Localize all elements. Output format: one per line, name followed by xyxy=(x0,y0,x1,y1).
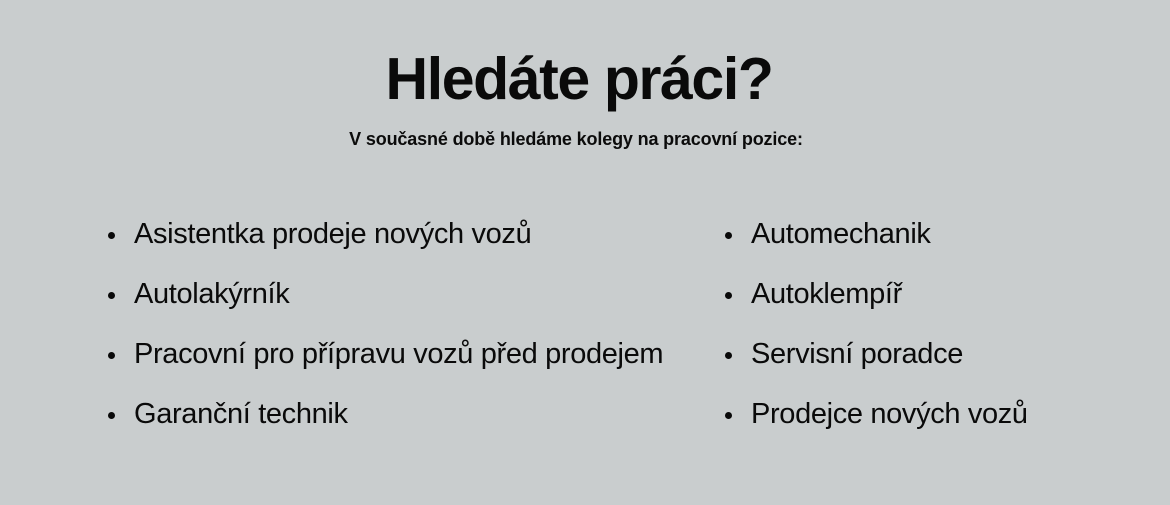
list-item: Pracovní pro přípravu vozů před prodejem xyxy=(103,325,660,385)
bullet-icon xyxy=(725,352,732,359)
bullet-icon xyxy=(725,232,732,239)
bullet-icon xyxy=(108,232,115,239)
list-item: Autolakýrník xyxy=(103,265,660,325)
job-title-label: Garanční technik xyxy=(134,398,348,431)
list-item: Automechanik xyxy=(720,205,1170,265)
job-list-right: Automechanik Autoklempíř Servisní poradc… xyxy=(720,205,1170,445)
job-columns: Asistentka prodeje nových vozů Autolakýr… xyxy=(0,205,1170,455)
page-subtitle: V současné době hledáme kolegy na pracov… xyxy=(0,128,1152,151)
job-title-label: Autoklempíř xyxy=(751,278,902,311)
list-item: Garanční technik xyxy=(103,385,660,445)
job-column-right: Automechanik Autoklempíř Servisní poradc… xyxy=(660,205,1170,445)
list-item: Prodejce nových vozů xyxy=(720,385,1170,445)
bullet-icon xyxy=(725,292,732,299)
list-item: Autoklempíř xyxy=(720,265,1170,325)
job-title-label: Automechanik xyxy=(751,218,931,251)
job-column-left: Asistentka prodeje nových vozů Autolakýr… xyxy=(0,205,660,445)
job-title-label: Pracovní pro přípravu vozů před prodejem xyxy=(134,338,663,371)
job-title-label: Prodejce nových vozů xyxy=(751,398,1028,431)
job-title-label: Servisní poradce xyxy=(751,338,963,371)
bullet-icon xyxy=(108,352,115,359)
bullet-icon xyxy=(108,292,115,299)
job-title-label: Asistentka prodeje nových vozů xyxy=(134,218,531,251)
bullet-icon xyxy=(725,412,732,419)
job-list-left: Asistentka prodeje nových vozů Autolakýr… xyxy=(103,205,660,445)
job-title-label: Autolakýrník xyxy=(134,278,289,311)
job-posting-banner: Hledáte práci? V současné době hledáme k… xyxy=(0,0,1170,505)
bullet-icon xyxy=(108,412,115,419)
list-item: Servisní poradce xyxy=(720,325,1170,385)
list-item: Asistentka prodeje nových vozů xyxy=(103,205,660,265)
page-title: Hledáte práci? xyxy=(0,48,1158,112)
